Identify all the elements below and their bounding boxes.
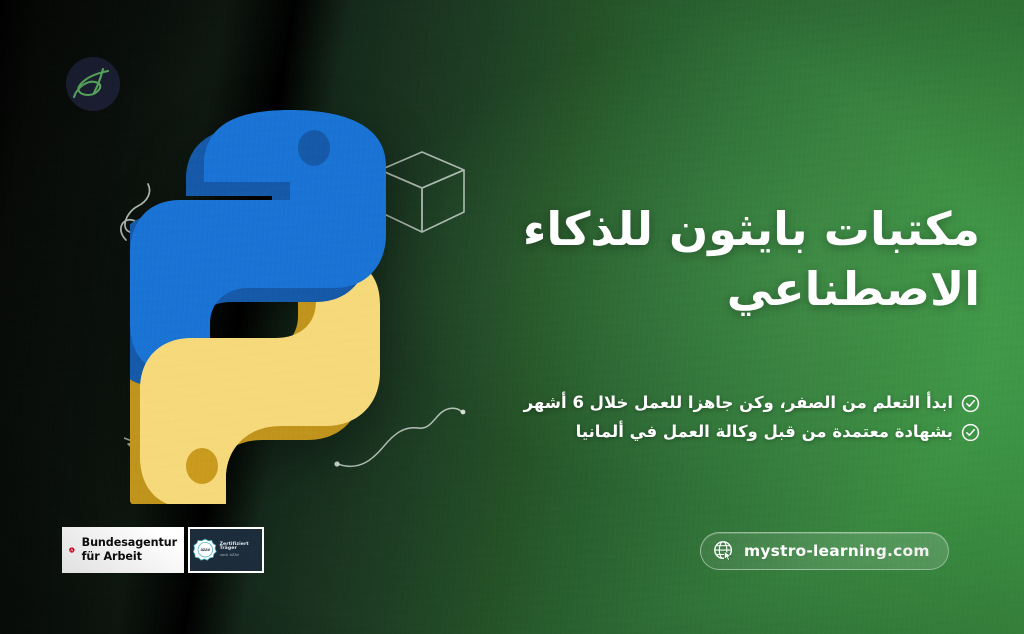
seal-line-1: Zertifiziert Träger [220,543,259,552]
list-item: بشهادة معتمدة من قبل وكالة العمل في ألما… [420,421,980,443]
certification-seal-badge: azav Zertifiziert Träger nach AZAV [188,527,264,573]
list-item-label: ابدأ التعلم من الصفر، وكن جاهزا للعمل خل… [524,392,953,414]
decoration-circle [66,57,120,111]
headline-line-1: مكتبات بايثون للذكاء [460,200,980,260]
bundesagentur-line-2: für Arbeit [82,550,142,563]
feature-list: ابدأ التعلم من الصفر، وكن جاهزا للعمل خل… [420,392,980,451]
bundesagentur-label: Bundesagentur für Arbeit [82,536,177,563]
list-item-label: بشهادة معتمدة من قبل وكالة العمل في ألما… [576,421,953,443]
seal-line-2: nach AZAV [220,554,259,558]
banner-canvas: مكتبات بايثون للذكاء الاصطناعي ابدأ التع… [0,0,1024,634]
bundesagentur-line-1: Bundesagentur [82,536,177,549]
website-link-pill[interactable]: mystro-learning.com [700,532,949,570]
globe-cursor-icon [713,540,735,562]
rosette-label: azav [200,547,210,552]
certification-rosette-icon: azav [193,535,218,565]
headline-line-2: الاصطناعي [460,260,980,320]
script-check-flourish-icon [64,55,126,115]
website-url-label: mystro-learning.com [744,542,930,560]
list-item: ابدأ التعلم من الصفر، وكن جاهزا للعمل خل… [420,392,980,414]
page-title: مكتبات بايثون للذكاء الاصطناعي [460,200,980,320]
bundesagentur-fuer-arbeit-badge: Bundesagentur für Arbeit [62,527,184,573]
check-circle-icon [961,394,980,413]
accreditation-badges: Bundesagentur für Arbeit azav Zertifizie… [62,527,264,573]
check-circle-icon [961,423,980,442]
bundesagentur-fuer-arbeit-logo [69,537,75,563]
